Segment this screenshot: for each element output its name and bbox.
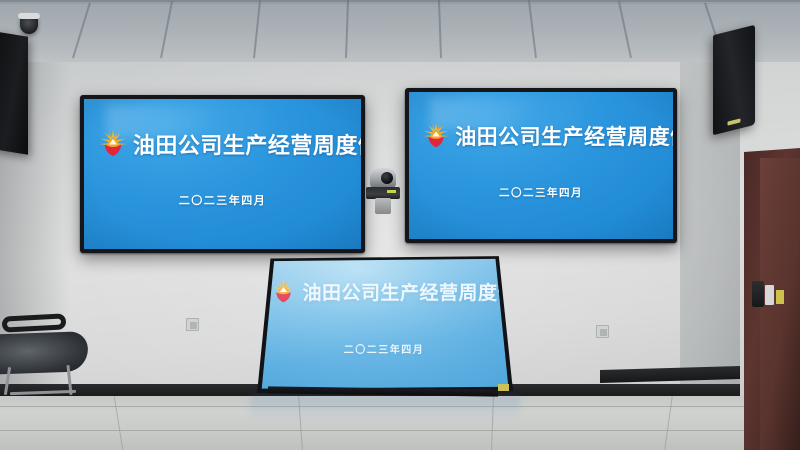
ceiling-grid-line bbox=[618, 1, 632, 58]
display-screen[interactable]: 油田公司生产经营周度例会 二〇二三年四月 bbox=[409, 92, 673, 239]
slide-header: 油田公司生产经营周度例会 bbox=[270, 277, 502, 306]
left-wall-display[interactable]: 油田公司生产经营周度例会 二〇二三年四月 bbox=[80, 95, 365, 253]
speaker-badge bbox=[728, 118, 741, 125]
ptz-conference-camera[interactable] bbox=[366, 168, 400, 214]
slide-title: 油田公司生产经营周度例会 bbox=[455, 121, 673, 151]
floor-grout-line bbox=[114, 396, 123, 449]
door-lock-icon bbox=[765, 285, 774, 305]
screen-washout-glare bbox=[255, 255, 513, 393]
chair-leg-rail bbox=[10, 390, 76, 395]
screen-vignette bbox=[409, 92, 673, 239]
slide-title: 油田公司生产经营周度例会 bbox=[133, 128, 361, 160]
right-wall-display[interactable]: 油田公司生产经营周度例会 二〇二三年四月 bbox=[405, 88, 677, 243]
cnpc-petrochina-logo-icon bbox=[98, 128, 128, 160]
conference-room-scene: 油田公司生产经营周度例会 二〇二三年四月 bbox=[0, 0, 800, 450]
ceiling-grid-line bbox=[72, 2, 90, 58]
display-screen[interactable]: 油田公司生产经营周度例会 二〇二三年四月 bbox=[255, 255, 513, 393]
wall-socket-right bbox=[596, 325, 609, 338]
floor-screen-reflection bbox=[250, 396, 520, 422]
cnpc-petrochina-logo-icon bbox=[270, 277, 297, 306]
camera-lens-icon bbox=[381, 172, 393, 184]
ceiling-grid-line bbox=[438, 0, 442, 58]
door-key-tag bbox=[776, 290, 784, 304]
ceiling-grid-line bbox=[253, 0, 261, 58]
floor-display[interactable]: 油田公司生产经营周度例会 二〇二三年四月 bbox=[255, 255, 513, 393]
ceiling-grid-line bbox=[528, 0, 537, 58]
camera-bracket bbox=[375, 198, 391, 214]
chair-backrest bbox=[2, 313, 67, 332]
chair[interactable] bbox=[0, 315, 104, 399]
screen-vignette bbox=[84, 99, 361, 249]
ceiling-edge-line bbox=[0, 2, 800, 4]
left-wall-speaker bbox=[0, 31, 28, 154]
slide-title: 油田公司生产经营周度例会 bbox=[302, 278, 513, 305]
display-screen[interactable]: 油田公司生产经营周度例会 二〇二三年四月 bbox=[84, 99, 361, 249]
ceiling-dome-camera-icon bbox=[20, 17, 38, 34]
slide-header: 油田公司生产经营周度例会 bbox=[98, 128, 347, 160]
door-handle[interactable] bbox=[752, 281, 764, 307]
slide-date: 二〇二三年四月 bbox=[84, 192, 361, 208]
ceiling bbox=[0, 0, 800, 66]
slide-date: 二〇二三年四月 bbox=[255, 341, 513, 356]
ceiling-grid-line bbox=[160, 1, 173, 58]
cnpc-petrochina-logo-icon bbox=[422, 121, 450, 151]
slide-header: 油田公司生产经营周度例会 bbox=[422, 121, 660, 151]
camera-status-led bbox=[387, 190, 396, 193]
floor-grout-line bbox=[664, 396, 673, 450]
right-wall-speaker bbox=[713, 25, 755, 135]
floor-display-label-tag bbox=[498, 384, 509, 391]
camera-body bbox=[370, 168, 396, 188]
wall-socket-left bbox=[186, 318, 199, 331]
ceiling-grid-line bbox=[345, 0, 349, 58]
chair-seat bbox=[0, 331, 89, 375]
slide-date: 二〇二三年四月 bbox=[409, 185, 673, 200]
